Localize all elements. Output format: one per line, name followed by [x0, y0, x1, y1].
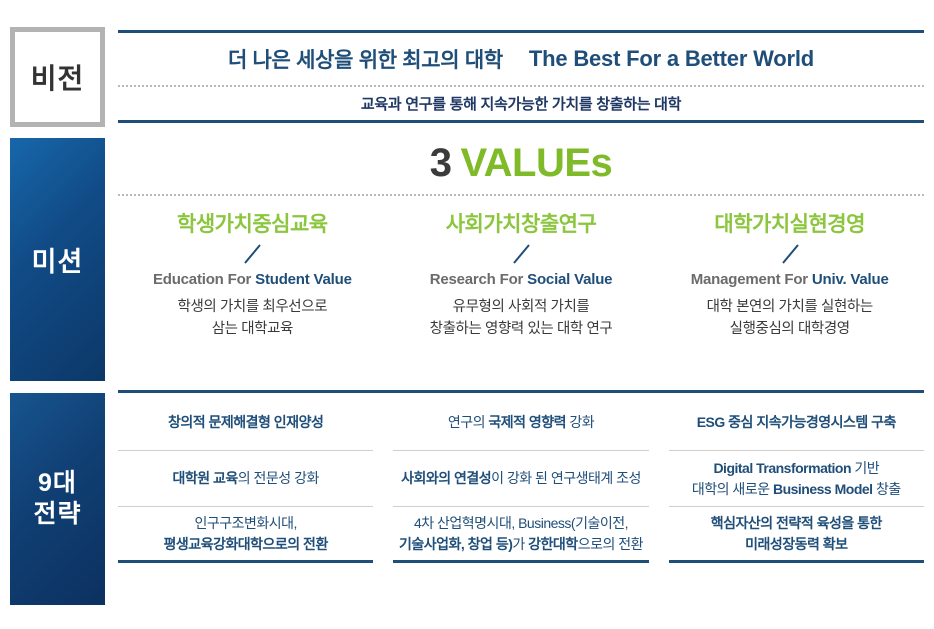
strategy-text-segment: 기반: [851, 460, 879, 476]
strategy-cell-text: 창의적 문제해결형 인재양성: [168, 412, 323, 432]
mission-column-univ-value: 대학가치실현경영 Management For Univ. Value 대학 본…: [655, 212, 924, 341]
mission-desc-2-line1: 유무형의 사회적 가치를: [453, 299, 590, 315]
strategy-cell-text: 사회와의 연결성이 강화 된 연구생태계 조성: [401, 468, 641, 488]
strategy-column-3: ESG 중심 지속가능경영시스템 구축Digital Transformatio…: [669, 395, 924, 563]
strategy-cell-2-1: 연구의 국제적 영향력 강화: [393, 395, 648, 451]
rail-strategy-text: 9대 전략: [33, 468, 81, 531]
mission-title-1: 학생가치중심교육: [124, 212, 381, 237]
vision-headline-english: The Best For a Better World: [529, 46, 814, 72]
mission-slash-3: [661, 237, 918, 271]
mission-desc-2-line2: 창출하는 영향력 있는 대학 연구: [430, 321, 613, 337]
strategy-column-2: 연구의 국제적 영향력 강화사회와의 연결성이 강화 된 연구생태계 조성4차 …: [393, 395, 648, 563]
strategy-text-segment: 국제적 영향력: [488, 414, 566, 430]
strategy-text-segment: 의 전문성 강화: [238, 470, 319, 486]
strategy-cell-1-3: 인구구조변화시대,평생교육강화대학으로의 전환: [118, 507, 373, 563]
strategy-cell-text: 4차 산업혁명시대, Business(기술이전,기술사업화, 창업 등)가 강…: [399, 513, 643, 554]
mission-desc-3-line2: 실행중심의 대학경영: [730, 321, 850, 337]
strategy-cell-text: ESG 중심 지속가능경영시스템 구축: [697, 412, 896, 432]
strategy-text-segment: 으로의 전환: [263, 536, 328, 552]
strategy-text-segment: 기술사업화, 창업 등): [399, 536, 512, 552]
strategy-text-segment: 이 강화 된 연구생태계 조성: [491, 470, 641, 486]
mission-desc-3-line1: 대학 본연의 가치를 실현하는: [707, 299, 873, 315]
strategy-text-segment: 연구의: [448, 414, 489, 430]
vision-section: 더 나은 세상을 위한 최고의 대학 The Best For a Better…: [118, 30, 924, 122]
strategy-cell-3-1: ESG 중심 지속가능경영시스템 구축: [669, 395, 924, 451]
mission-section: 3VALUEs 학생가치중심교육 Education For Student V…: [118, 132, 924, 380]
mission-desc-1-line2: 삼는 대학교육: [212, 321, 293, 337]
rail-label-vision: 비전: [10, 27, 105, 127]
rail-strategy-line1: 9대: [38, 469, 77, 497]
strategy-text-segment: Digital Transformation: [713, 460, 851, 476]
mission-desc-1-line1: 학생의 가치를 최우선으로: [178, 299, 328, 315]
strategy-text-segment: 4차 산업혁명시대, Business(기술이전,: [414, 515, 628, 531]
mission-columns: 학생가치중심교육 Education For Student Value 학생의…: [118, 196, 924, 341]
mission-english-2: Research For Social Value: [393, 271, 650, 288]
mission-column-student-value: 학생가치중심교육 Education For Student Value 학생의…: [118, 212, 387, 341]
strategy-text-segment: Business Model: [773, 481, 873, 497]
strategy-text-segment: 대학원 교육: [172, 470, 237, 486]
mission-english-3-bold: Univ. Value: [812, 271, 889, 288]
strategy-text-segment: 사회와의 연결성: [401, 470, 491, 486]
mission-slash-1: [124, 237, 381, 271]
strategy-cell-text: Digital Transformation 기반대학의 새로운 Busines…: [692, 458, 901, 499]
mission-title-3: 대학가치실현경영: [661, 212, 918, 237]
strategy-cell-3-2: Digital Transformation 기반대학의 새로운 Busines…: [669, 451, 924, 507]
vision-mission-strategy-diagram: 비전 미션 9대 전략 더 나은 세상을 위한 최고의 대학 The Best …: [0, 0, 934, 629]
mission-slash-2: [393, 237, 650, 271]
strategy-cell-1-2: 대학원 교육의 전문성 강화: [118, 451, 373, 507]
mission-column-social-value: 사회가치창출연구 Research For Social Value 유무형의 …: [387, 212, 656, 341]
rail-mission-text: 미션: [32, 240, 84, 279]
strategy-text-segment: 미래성장동력 확보: [745, 536, 847, 552]
strategy-text-segment: 가: [512, 536, 528, 552]
mission-english-2-bold: Social Value: [527, 271, 612, 288]
mission-english-3: Management For Univ. Value: [661, 271, 918, 288]
strategy-text-segment: 인구구조변화시대,: [194, 515, 296, 531]
mission-desc-3: 대학 본연의 가치를 실현하는 실행중심의 대학경영: [661, 297, 918, 341]
strategy-cell-text: 대학원 교육의 전문성 강화: [172, 468, 318, 488]
strategy-text-segment: 핵심자산의 전략적 육성을 통한: [711, 515, 882, 531]
values-word: VALUEs: [460, 141, 612, 186]
mission-english-3-light: Management For: [691, 271, 812, 288]
strategy-text-segment: 창의적 문제해결형 인재양성: [168, 414, 323, 430]
values-number: 3: [430, 141, 452, 186]
mission-english-1-bold: Student Value: [255, 271, 352, 288]
strategy-cell-3-3: 핵심자산의 전략적 육성을 통한미래성장동력 확보: [669, 507, 924, 563]
vision-subline: 교육과 연구를 통해 지속가능한 가치를 창출하는 대학: [118, 87, 924, 120]
vision-headline: 더 나은 세상을 위한 최고의 대학 The Best For a Better…: [118, 33, 924, 85]
strategy-cell-text: 연구의 국제적 영향력 강화: [448, 412, 594, 432]
strategy-text-segment: 창출: [873, 481, 901, 497]
strategy-text-segment: 강화: [566, 414, 594, 430]
rail-vision-text: 비전: [31, 57, 85, 97]
strategy-cell-1-1: 창의적 문제해결형 인재양성: [118, 395, 373, 451]
strategy-text-segment: 평생교육강화대학: [163, 536, 262, 552]
vision-headline-korean: 더 나은 세상을 위한 최고의 대학: [228, 44, 503, 74]
strategy-text-segment: ESG 중심 지속가능경영시스템 구축: [697, 414, 896, 430]
rail-strategy-line2: 전략: [33, 500, 81, 528]
vision-bottom-rule: [118, 120, 924, 123]
strategy-cell-2-2: 사회와의 연결성이 강화 된 연구생태계 조성: [393, 451, 648, 507]
mission-english-2-light: Research For: [430, 271, 527, 288]
strategy-text-segment: 강한대학: [528, 536, 578, 552]
strategy-section: 창의적 문제해결형 인재양성대학원 교육의 전문성 강화인구구조변화시대,평생교…: [118, 390, 924, 612]
strategy-text-segment: 대학의 새로운: [692, 481, 773, 497]
strategy-text-segment: 으로의 전환: [578, 536, 643, 552]
strategy-cell-2-3: 4차 산업혁명시대, Business(기술이전,기술사업화, 창업 등)가 강…: [393, 507, 648, 563]
mission-desc-2: 유무형의 사회적 가치를 창출하는 영향력 있는 대학 연구: [393, 297, 650, 341]
rail-label-strategy: 9대 전략: [10, 393, 105, 605]
rail-label-mission: 미션: [10, 138, 105, 381]
mission-title-2: 사회가치창출연구: [393, 212, 650, 237]
mission-english-1: Education For Student Value: [124, 271, 381, 288]
strategy-column-1: 창의적 문제해결형 인재양성대학원 교육의 전문성 강화인구구조변화시대,평생교…: [118, 395, 373, 563]
strategy-cell-text: 인구구조변화시대,평생교육강화대학으로의 전환: [163, 513, 327, 554]
strategy-grid: 창의적 문제해결형 인재양성대학원 교육의 전문성 강화인구구조변화시대,평생교…: [118, 393, 924, 563]
three-values-heading: 3VALUEs: [118, 132, 924, 194]
mission-english-1-light: Education For: [153, 271, 255, 288]
strategy-cell-text: 핵심자산의 전략적 육성을 통한미래성장동력 확보: [711, 513, 882, 554]
mission-desc-1: 학생의 가치를 최우선으로 삼는 대학교육: [124, 297, 381, 341]
